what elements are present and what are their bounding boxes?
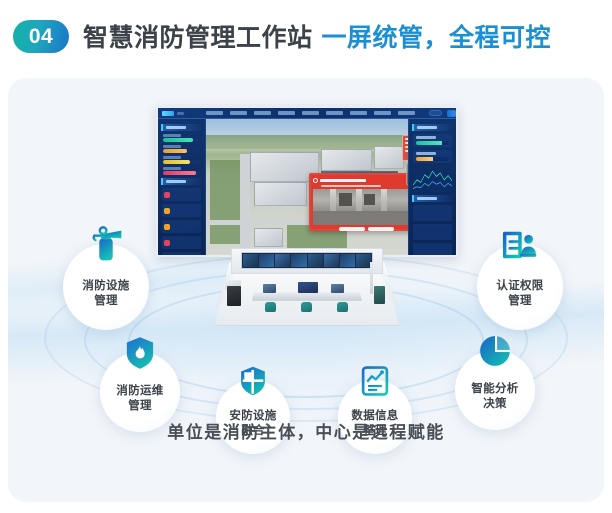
stat-label bbox=[163, 145, 181, 148]
alert-actions bbox=[313, 227, 408, 231]
fire-extinguisher-icon bbox=[83, 222, 129, 268]
stat-bar-track bbox=[163, 160, 200, 164]
dashboard-logo-sub bbox=[177, 112, 184, 115]
nav-item[interactable] bbox=[350, 111, 367, 115]
video-wall-cell bbox=[275, 254, 290, 267]
metric-bar-track bbox=[416, 141, 449, 145]
section-number-badge: 04 bbox=[13, 20, 69, 53]
list-item[interactable] bbox=[162, 204, 201, 217]
nav-item[interactable] bbox=[374, 111, 391, 115]
video-wall-cell bbox=[340, 254, 355, 267]
dashboard-logo bbox=[162, 111, 174, 116]
video-wall-cell bbox=[356, 254, 371, 267]
stat-bar-fill bbox=[163, 138, 193, 142]
operator-chair bbox=[301, 302, 312, 312]
metric-bar-fill bbox=[416, 157, 433, 161]
footer-caption: 单位是消防主体，中心是远程赋能 bbox=[8, 418, 604, 443]
panel-section-header bbox=[161, 178, 202, 185]
video-wall-cell bbox=[243, 254, 258, 267]
room-pillar bbox=[370, 262, 373, 294]
control-room-illustration bbox=[201, 246, 413, 330]
alert-dispatch-button[interactable] bbox=[368, 227, 394, 231]
alert-title bbox=[320, 179, 366, 182]
severity-dot bbox=[164, 256, 170, 258]
illustration-card: 消防设施 管理 消防运维 管理 bbox=[8, 78, 604, 502]
stat-bar-track bbox=[163, 149, 200, 153]
stat-bar-row bbox=[163, 156, 200, 164]
list-item[interactable] bbox=[413, 205, 452, 221]
header-title-group: 智慧消防管理工作站 一屏统管，全程可控 bbox=[83, 18, 551, 54]
severity-dot bbox=[164, 192, 170, 198]
page-subtitle: 一屏统管，全程可控 bbox=[322, 18, 552, 54]
stat-bar-row bbox=[163, 167, 200, 175]
trend-chart-svg bbox=[413, 166, 452, 192]
map-building bbox=[254, 182, 307, 206]
room-server-cabinet bbox=[227, 286, 241, 306]
feature-bubble-auth-manage[interactable]: 认证权限 管理 bbox=[477, 244, 563, 330]
severity-dot bbox=[164, 240, 170, 246]
bubble-label: 消防运维 管理 bbox=[116, 384, 163, 414]
map-building bbox=[321, 149, 372, 171]
alarm-bell-icon bbox=[313, 178, 318, 183]
list-item[interactable] bbox=[413, 243, 452, 257]
map-building bbox=[254, 228, 282, 247]
nav-item[interactable] bbox=[206, 111, 223, 115]
bubble-label: 智能分析 决策 bbox=[471, 382, 518, 412]
panel-section-header bbox=[412, 195, 453, 202]
metric-card bbox=[413, 150, 452, 163]
metric-title bbox=[416, 136, 436, 139]
stat-bar-fill bbox=[163, 149, 187, 153]
video-wall-cell bbox=[291, 254, 306, 267]
dashboard-navbar bbox=[158, 108, 456, 119]
dashboard-action-button[interactable] bbox=[447, 110, 456, 117]
desk-monitor bbox=[298, 282, 318, 293]
shield-cross-icon bbox=[234, 362, 272, 400]
trend-line-chart bbox=[413, 166, 452, 192]
operator-chair bbox=[337, 302, 348, 312]
section-number: 04 bbox=[29, 26, 53, 47]
stat-bar-row bbox=[163, 134, 200, 142]
report-chart-icon bbox=[356, 362, 394, 400]
nav-item[interactable] bbox=[230, 111, 247, 115]
map-road bbox=[240, 154, 250, 255]
list-item[interactable] bbox=[162, 220, 201, 233]
operator-desk bbox=[252, 292, 363, 301]
cctv-video-feed bbox=[313, 189, 408, 225]
metric-bar-fill bbox=[416, 141, 442, 145]
header: 04 智慧消防管理工作站 一屏统管，全程可控 bbox=[0, 0, 612, 72]
nav-item[interactable] bbox=[278, 111, 295, 115]
severity-dot bbox=[164, 224, 170, 230]
video-doorway bbox=[339, 193, 352, 205]
video-wall-cell bbox=[259, 254, 274, 267]
alert-subtitle bbox=[321, 185, 381, 187]
nav-item[interactable] bbox=[254, 111, 271, 115]
metric-bar-track bbox=[416, 157, 449, 161]
fire-alarm-video-popup[interactable] bbox=[309, 173, 408, 231]
stat-bar-track bbox=[163, 138, 200, 142]
id-badge-icon bbox=[497, 222, 543, 268]
stat-label bbox=[163, 134, 181, 137]
list-item[interactable] bbox=[162, 188, 201, 201]
stat-bar-track bbox=[163, 171, 200, 175]
video-wall bbox=[241, 252, 373, 269]
video-floor bbox=[313, 211, 408, 225]
dashboard-nav-items bbox=[206, 111, 415, 115]
stat-bar-fill bbox=[163, 171, 196, 175]
video-doorway bbox=[364, 194, 375, 205]
video-wall-cell bbox=[308, 254, 323, 267]
operator-chair bbox=[265, 302, 276, 312]
dashboard-screen bbox=[156, 106, 458, 257]
metric-title bbox=[416, 152, 436, 155]
pie-chart-icon bbox=[474, 330, 516, 372]
nav-item[interactable] bbox=[326, 111, 343, 115]
list-item[interactable] bbox=[162, 236, 201, 249]
dashboard-left-panel bbox=[158, 119, 206, 255]
stat-bar-row bbox=[163, 145, 200, 153]
bubble-label: 认证权限 管理 bbox=[496, 279, 543, 309]
desk-monitor bbox=[263, 284, 276, 293]
desk-monitor bbox=[331, 284, 344, 293]
aerial-factory-map bbox=[206, 119, 408, 255]
nav-item[interactable] bbox=[398, 111, 415, 115]
alert-confirm-button[interactable] bbox=[339, 227, 365, 231]
alert-header bbox=[313, 177, 408, 184]
stat-bar-fill bbox=[163, 160, 190, 164]
page-title: 智慧消防管理工作站 bbox=[83, 18, 313, 54]
metric-card bbox=[413, 134, 452, 147]
feature-bubble-fire-facility[interactable]: 消防设施 管理 bbox=[63, 244, 149, 330]
map-greenery bbox=[210, 160, 242, 244]
dashboard-body bbox=[158, 108, 456, 255]
video-wall-cell bbox=[324, 254, 339, 267]
list-item[interactable] bbox=[413, 224, 452, 240]
dashboard-search-input[interactable] bbox=[429, 110, 442, 116]
stat-label bbox=[163, 156, 181, 159]
panel-section-header bbox=[412, 124, 453, 131]
stat-label bbox=[163, 167, 181, 170]
list-item[interactable] bbox=[162, 252, 201, 257]
panel-section-header bbox=[161, 124, 202, 131]
room-equipment-rack bbox=[374, 286, 385, 304]
shield-flame-icon bbox=[119, 332, 161, 374]
infographic-page: 04 智慧消防管理工作站 一屏统管，全程可控 bbox=[0, 0, 612, 513]
map-building bbox=[374, 146, 404, 169]
bubble-label: 消防设施 管理 bbox=[82, 279, 129, 309]
severity-dot bbox=[164, 208, 170, 214]
nav-item[interactable] bbox=[302, 111, 319, 115]
dashboard-right-panel bbox=[408, 119, 456, 255]
